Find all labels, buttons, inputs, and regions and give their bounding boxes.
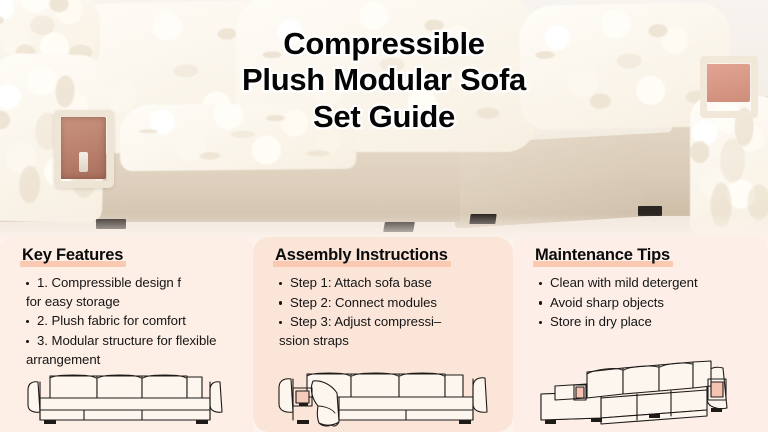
straight-sofa-illustration bbox=[24, 364, 229, 426]
list-item-text: 2. Plush fabric for comfort bbox=[37, 313, 186, 328]
list-item: Step 1: Attach sofa base bbox=[277, 274, 499, 293]
page-title: Compressible Plush Modular Sofa Set Guid… bbox=[0, 26, 768, 135]
list-item: Avoid sharp objects bbox=[537, 294, 754, 313]
list-item: Step 2: Connect modules bbox=[277, 294, 499, 313]
list-item: Step 3: Adjust compressi– ssion straps bbox=[277, 313, 499, 350]
infographic-page: Compressible Plush Modular Sofa Set Guid… bbox=[0, 0, 768, 432]
title-line-2: Plush Modular Sofa bbox=[0, 62, 768, 98]
panel-assembly-instructions: Assembly Instructions Step 1: Attach sof… bbox=[253, 237, 513, 432]
list-item-continuation: ssion straps bbox=[279, 332, 499, 351]
list-item: 2. Plush fabric for comfort bbox=[24, 312, 239, 331]
list-item-text: Clean with mild detergent bbox=[550, 275, 698, 290]
panel-heading-assembly-instructions: Assembly Instructions bbox=[273, 246, 451, 266]
list-item: Clean with mild detergent bbox=[537, 274, 754, 293]
remote-control-in-pocket bbox=[79, 152, 88, 172]
panel-key-features: Key Features 1. Compressible design f fo… bbox=[0, 237, 253, 432]
list-item-text: 3. Modular structure for flexible bbox=[37, 333, 216, 348]
panel-heading-maintenance-tips: Maintenance Tips bbox=[533, 246, 673, 266]
panel-maintenance-tips: Maintenance Tips Clean with mild deterge… bbox=[513, 237, 768, 432]
list-item: 1. Compressible design f for easy storag… bbox=[24, 274, 239, 311]
panel-heading-key-features: Key Features bbox=[20, 246, 126, 266]
sofa-with-throw-illustration bbox=[273, 360, 495, 428]
l-shaped-sectional-illustration bbox=[531, 354, 753, 428]
list-assembly-instructions: Step 1: Attach sofa base Step 2: Connect… bbox=[277, 274, 499, 351]
list-item-text: Step 3: Adjust compressi– bbox=[290, 314, 441, 329]
list-item-text: 1. Compressible design f bbox=[37, 275, 181, 290]
list-maintenance-tips: Clean with mild detergent Avoid sharp ob… bbox=[537, 274, 754, 332]
list-item-text: Step 1: Attach sofa base bbox=[290, 275, 432, 290]
title-line-3: Set Guide bbox=[0, 99, 768, 135]
list-item: Store in dry place bbox=[537, 313, 754, 332]
title-line-1: Compressible bbox=[0, 26, 768, 62]
list-item-text: Step 2: Connect modules bbox=[290, 295, 437, 310]
list-item-text: Avoid sharp objects bbox=[550, 295, 664, 310]
list-key-features: 1. Compressible design f for easy storag… bbox=[24, 274, 239, 370]
list-item-continuation: for easy storage bbox=[26, 293, 239, 312]
list-item-text: Store in dry place bbox=[550, 314, 652, 329]
panels-row: Key Features 1. Compressible design f fo… bbox=[0, 237, 768, 432]
